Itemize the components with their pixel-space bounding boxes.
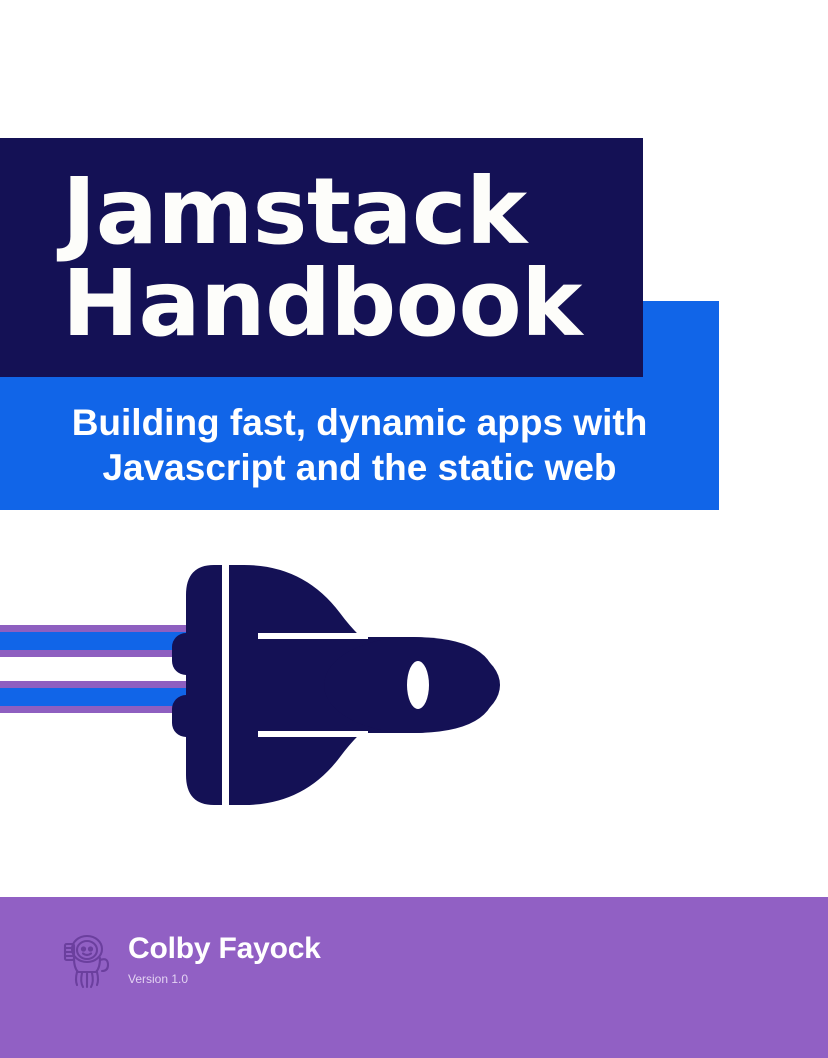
page-title: Jamstack Handbook: [0, 138, 643, 377]
author-name: Colby Fayock: [128, 933, 321, 965]
shuttle-cockpit-window: [407, 661, 429, 709]
footer-bar: Colby Fayock Version 1.0: [0, 897, 828, 1058]
subtitle-line-2: Javascript and the static web: [102, 445, 616, 490]
version-label: Version 1.0: [128, 972, 321, 986]
astronaut-jellyfish-logo-icon: [62, 932, 114, 992]
book-cover: Jamstack Handbook Building fast, dynamic…: [0, 0, 828, 1058]
page-subtitle: Building fast, dynamic apps with Javascr…: [0, 380, 719, 510]
subtitle-line-1: Building fast, dynamic apps with: [72, 400, 648, 445]
author-text-group: Colby Fayock Version 1.0: [128, 930, 321, 986]
shuttle-wing-gap-upper: [258, 633, 368, 639]
shuttle-body: [172, 565, 500, 805]
shuttle-tail-stripe: [222, 565, 229, 805]
author-block: Colby Fayock Version 1.0: [62, 930, 321, 992]
title-line-1: Jamstack: [62, 166, 643, 257]
shuttle-wing-gap-lower: [258, 731, 368, 737]
space-shuttle-illustration: [0, 545, 828, 825]
title-line-2: Handbook: [62, 258, 643, 349]
